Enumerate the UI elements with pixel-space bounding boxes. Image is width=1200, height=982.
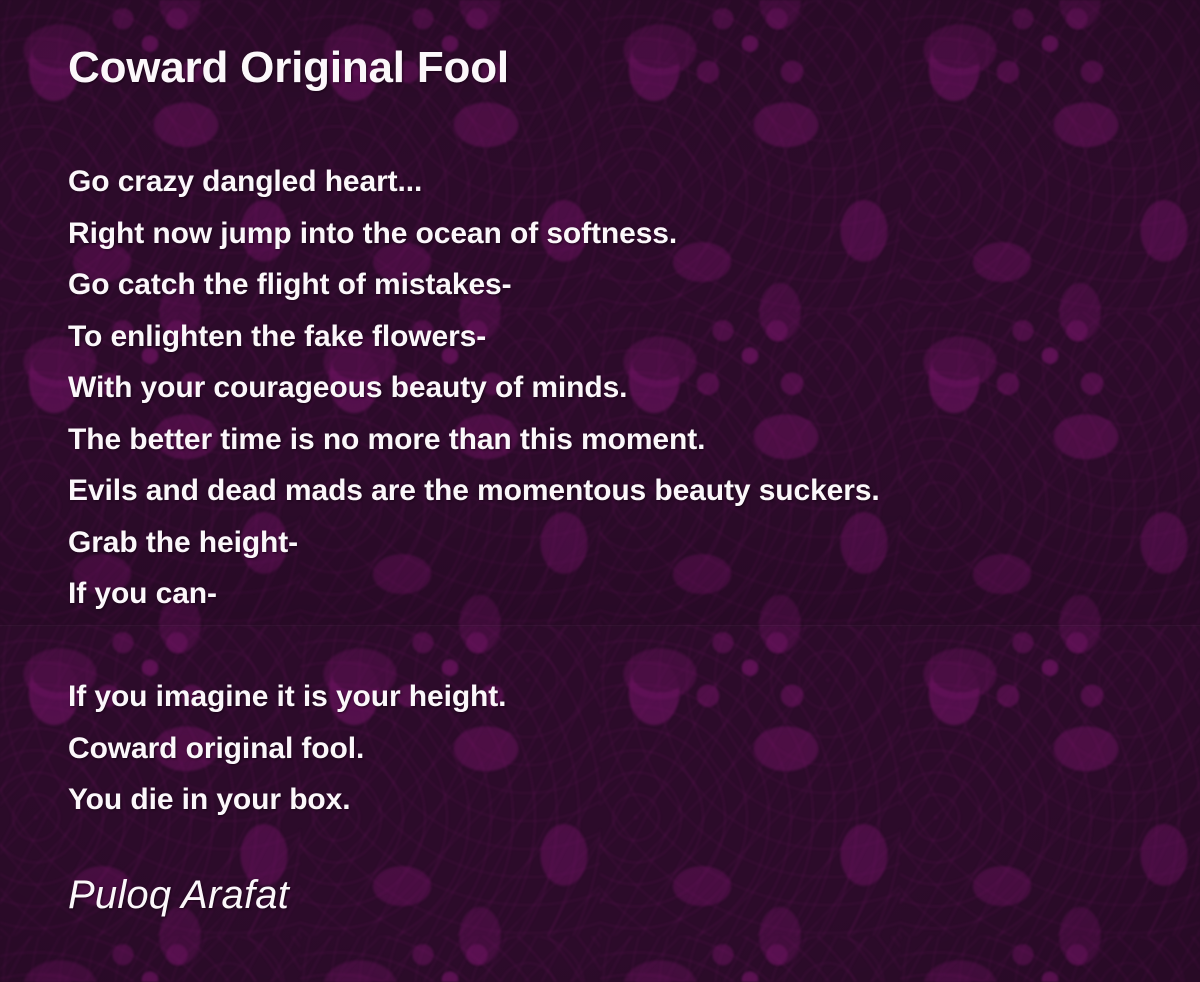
poem-line: With your courageous beauty of minds. [68,362,880,414]
poem-line: Right now jump into the ocean of softnes… [68,208,880,260]
poem-line: Coward original fool. [68,723,880,775]
poem-line: If you can- [68,568,880,620]
poem-line: You die in your box. [68,774,880,826]
poem-line: Evils and dead mads are the momentous be… [68,465,880,517]
poem-line: Grab the height- [68,517,880,569]
poem-title: Coward Original Fool [68,43,509,93]
poem-body: Go crazy dangled heart... Right now jump… [68,156,880,826]
poem-line: The better time is no more than this mom… [68,414,880,466]
poem-stanza-break [68,620,880,672]
poem-line: Go catch the flight of mistakes- [68,259,880,311]
poem-author: Puloq Arafat [68,873,289,918]
poem-line: Go crazy dangled heart... [68,156,880,208]
poem-line: To enlighten the fake flowers- [68,311,880,363]
poem-card: Coward Original Fool Go crazy dangled he… [0,0,1200,982]
poem-content: Coward Original Fool Go crazy dangled he… [68,0,1200,982]
poem-line: If you imagine it is your height. [68,671,880,723]
